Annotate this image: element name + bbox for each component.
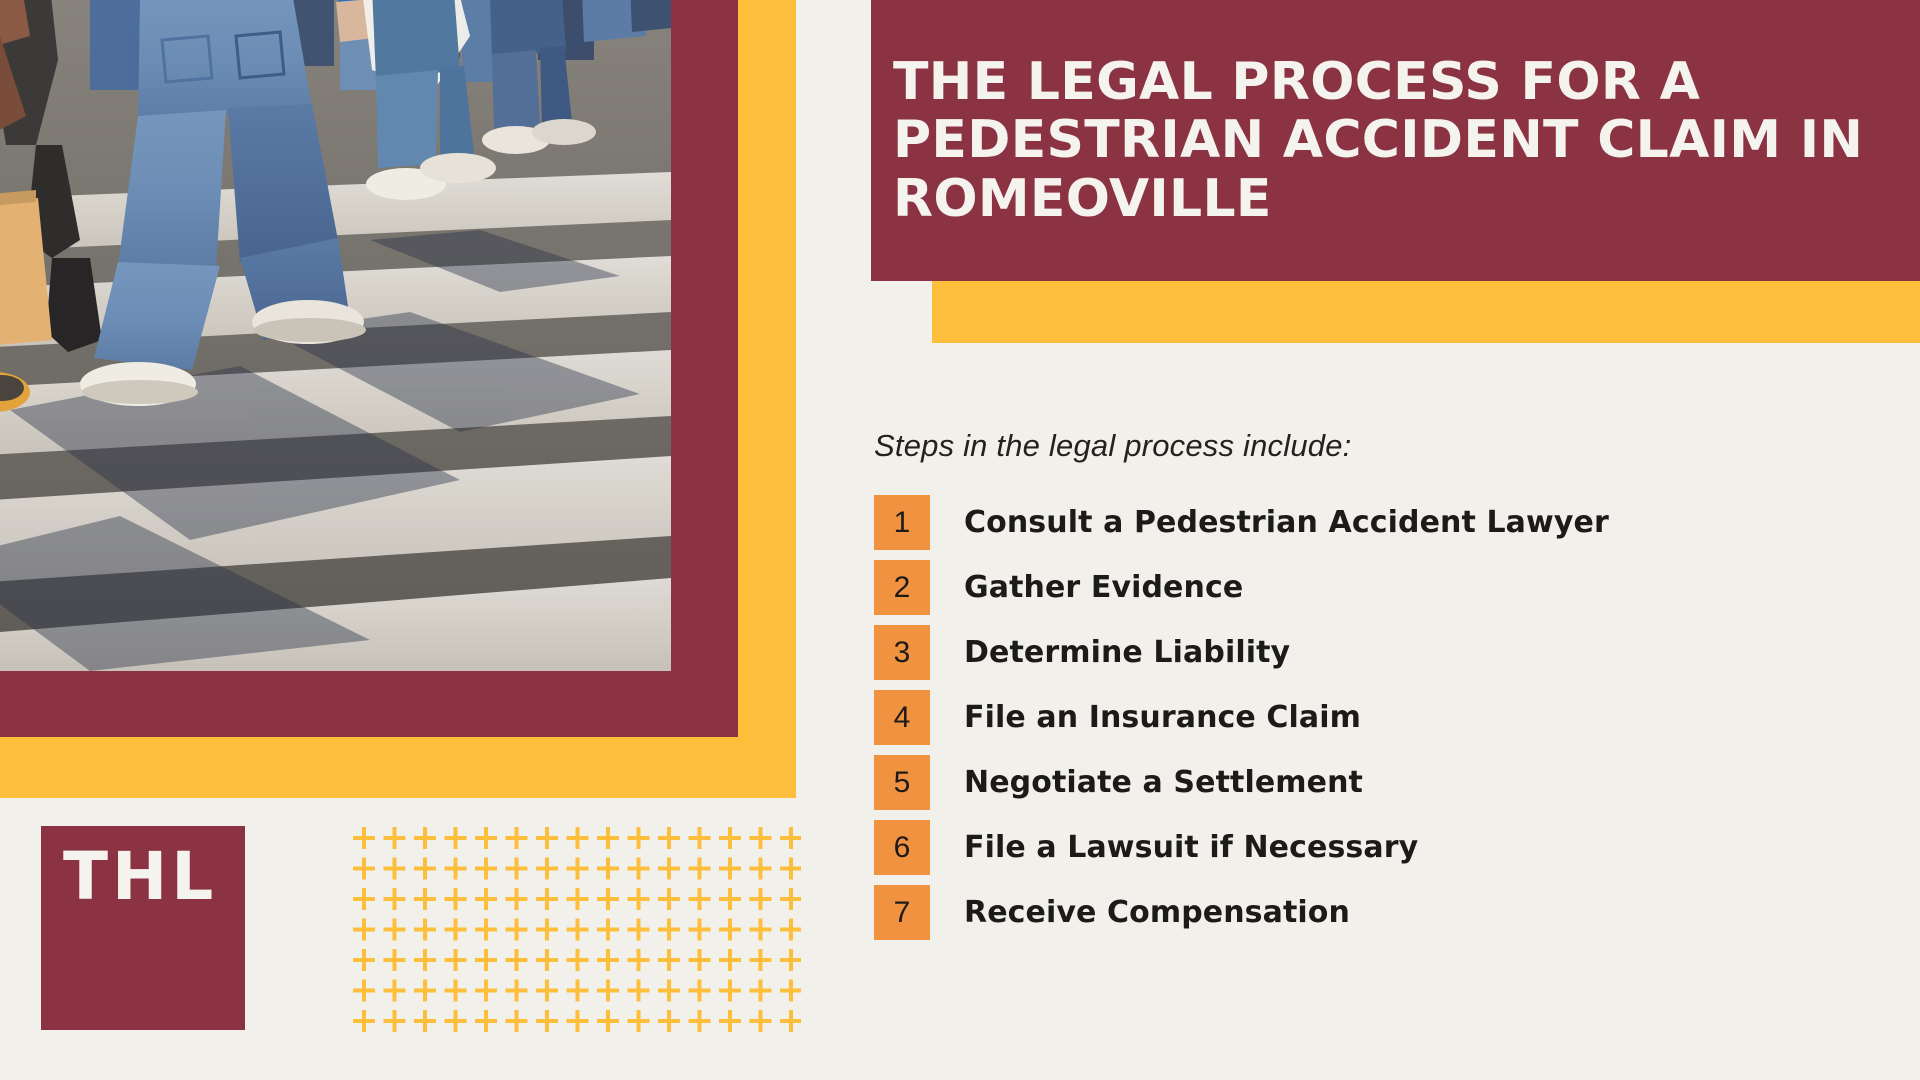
steps-list: 1 Consult a Pedestrian Accident Lawyer 2… [874,495,1874,940]
step-label: Consult a Pedestrian Accident Lawyer [964,505,1609,540]
step-number-badge: 1 [874,495,930,550]
list-item: 7 Receive Compensation [874,885,1874,940]
list-item: 1 Consult a Pedestrian Accident Lawyer [874,495,1874,550]
steps-panel: Steps in the legal process include: 1 Co… [874,428,1874,950]
list-item: 2 Gather Evidence [874,560,1874,615]
logo-text: THL [63,844,217,910]
list-item: 6 File a Lawsuit if Necessary [874,820,1874,875]
list-item: 3 Determine Liability [874,625,1874,680]
thl-logo: THL [41,826,245,1030]
infographic-canvas: THE LEGAL PROCESS FOR A PEDESTRIAN ACCID… [0,0,1920,1080]
step-number-badge: 5 [874,755,930,810]
plus-grid-pattern-icon [352,826,801,1041]
list-item: 4 File an Insurance Claim [874,690,1874,745]
title-accent-bar [932,281,1920,343]
step-number-badge: 7 [874,885,930,940]
pedestrian-crosswalk-photo [0,0,671,671]
step-label: Receive Compensation [964,895,1350,930]
steps-intro-text: Steps in the legal process include: [874,428,1874,464]
title-block: THE LEGAL PROCESS FOR A PEDESTRIAN ACCID… [871,0,1920,281]
list-item: 5 Negotiate a Settlement [874,755,1874,810]
step-label: File an Insurance Claim [964,700,1361,735]
step-label: Determine Liability [964,635,1290,670]
step-number-badge: 2 [874,560,930,615]
step-label: Gather Evidence [964,570,1243,605]
step-label: Negotiate a Settlement [964,765,1363,800]
step-number-badge: 6 [874,820,930,875]
step-number-badge: 4 [874,690,930,745]
step-label: File a Lawsuit if Necessary [964,830,1418,865]
page-title: THE LEGAL PROCESS FOR A PEDESTRIAN ACCID… [893,53,1896,228]
step-number-badge: 3 [874,625,930,680]
